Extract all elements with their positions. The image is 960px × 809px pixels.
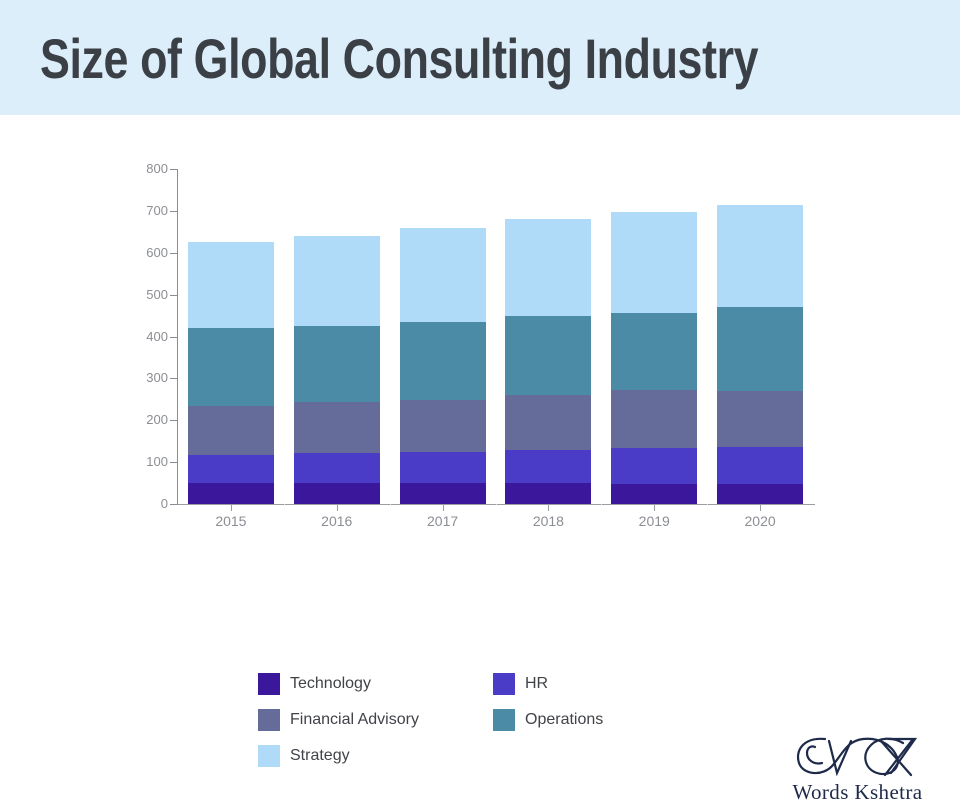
y-axis-tick-label: 200 [120,412,168,428]
legend-swatch-icon [493,673,515,695]
bar-segment-financial-advisory[interactable] [717,391,803,448]
x-axis-tick-mark [548,504,549,511]
bar-segment-hr[interactable] [188,455,274,483]
x-axis-tick-label: 2016 [277,513,397,529]
legend-swatch-icon [493,709,515,731]
y-axis-tick-mark [170,504,178,505]
legend-item-operations[interactable]: Operations [493,709,728,731]
slide-canvas: Size of Global Consulting Industry Marke… [0,0,960,720]
legend-item-financial-advisory[interactable]: Financial Advisory [258,709,493,731]
y-axis-tick-label: 0 [120,496,168,512]
bar-group-2020[interactable] [717,169,803,504]
legend-item-label: Operations [525,711,603,729]
y-axis-tick-label: 500 [120,287,168,303]
y-axis-tick-label: 100 [120,454,168,470]
y-axis-tick-mark [170,337,178,338]
bar-segment-financial-advisory[interactable] [294,402,380,453]
x-axis-tick-label: 2017 [383,513,503,529]
x-axis-tick-label: 2015 [171,513,291,529]
legend-item-label: Financial Advisory [290,711,419,729]
y-axis-tick-mark [170,378,178,379]
bar-segment-financial-advisory[interactable] [611,390,697,448]
legend-item-technology[interactable]: Technology [258,673,493,695]
page-title: Size of Global Consulting Industry [40,23,744,95]
y-axis-tick-mark [170,462,178,463]
bar-group-2015[interactable] [188,169,274,504]
y-axis-tick-mark [170,420,178,421]
legend-row: Strategy [258,745,728,767]
watermark-brand: Words Kshetra [775,780,940,805]
bar-segment-technology[interactable] [505,483,591,504]
slide-header-band: Size of Global Consulting Industry [0,0,960,115]
bar-segment-strategy[interactable] [505,219,591,316]
bar-segment-hr[interactable] [611,448,697,484]
y-axis-tick-label: 300 [120,370,168,386]
bar-segment-technology[interactable] [294,483,380,504]
x-axis-tick-label: 2020 [700,513,820,529]
bar-segment-financial-advisory[interactable] [188,406,274,456]
legend-item-hr[interactable]: HR [493,673,728,695]
x-axis-tick-mark [654,504,655,511]
bar-segment-technology[interactable] [611,484,697,504]
bar-group-2017[interactable] [400,169,486,504]
bar-segment-operations[interactable] [188,328,274,405]
bar-group-2016[interactable] [294,169,380,504]
x-axis-tick-label: 2018 [488,513,608,529]
legend-item-label: Strategy [290,747,350,765]
legend-row: Financial AdvisoryOperations [258,709,728,731]
legend-swatch-icon [258,709,280,731]
bar-segment-operations[interactable] [400,322,486,400]
x-axis-tick-mark [337,504,338,511]
watermark-logo: Words Kshetra [775,727,940,809]
legend-item-label: HR [525,675,548,693]
x-axis-tick-mark [760,504,761,511]
bar-segment-operations[interactable] [294,326,380,402]
y-axis-tick-label: 700 [120,203,168,219]
y-axis-tick-mark [170,169,178,170]
bar-segment-operations[interactable] [717,307,803,391]
bar-segment-operations[interactable] [505,316,591,395]
bar-segment-technology[interactable] [400,483,486,504]
legend-swatch-icon [258,673,280,695]
chart-container: Market Size 0100200300400500600700800 20… [0,115,960,720]
y-axis-tick-mark [170,211,178,212]
legend-row: TechnologyHR [258,673,728,695]
x-axis-tick-mark [231,504,232,511]
bar-segment-operations[interactable] [611,313,697,390]
bar-segment-financial-advisory[interactable] [505,395,591,449]
y-axis-tick-mark [170,295,178,296]
bar-segment-hr[interactable] [400,452,486,483]
bar-segment-hr[interactable] [505,450,591,484]
bar-group-2018[interactable] [505,169,591,504]
bar-segment-strategy[interactable] [188,242,274,328]
legend-swatch-icon [258,745,280,767]
y-axis-tick-label: 600 [120,245,168,261]
bar-segment-strategy[interactable] [717,205,803,308]
bar-segment-strategy[interactable] [294,236,380,326]
y-axis-tick-label: 400 [120,329,168,345]
x-axis-tick-mark [443,504,444,511]
legend-item-strategy[interactable]: Strategy [258,745,493,767]
bar-segment-technology[interactable] [717,484,803,504]
legend-item-label: Technology [290,675,371,693]
y-axis-tick-label: 800 [120,161,168,177]
bar-segment-technology[interactable] [188,483,274,504]
bar-segment-financial-advisory[interactable] [400,400,486,452]
plot-area [178,169,813,504]
y-axis-tick-mark [170,253,178,254]
wk-monogram-icon [785,727,935,783]
bar-segment-hr[interactable] [294,453,380,483]
chart-legend: TechnologyHRFinancial AdvisoryOperations… [258,673,728,781]
bar-group-2019[interactable] [611,169,697,504]
x-axis-tick-label: 2019 [594,513,714,529]
bar-segment-strategy[interactable] [400,228,486,322]
bar-segment-strategy[interactable] [611,212,697,314]
bar-segment-hr[interactable] [717,447,803,484]
